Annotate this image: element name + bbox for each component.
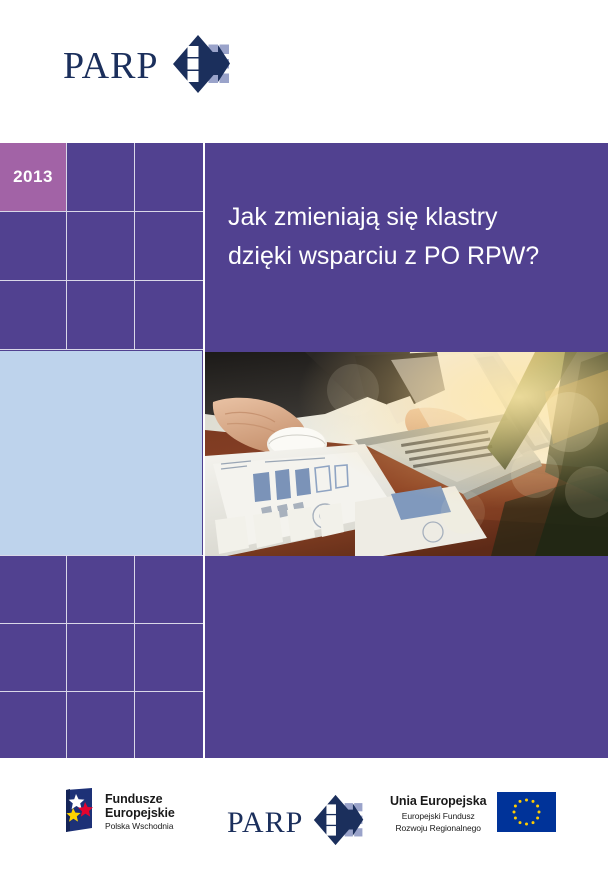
- cover-art-block: 2013 Jak zmieniają się klastry dzięki ws…: [0, 143, 608, 758]
- eu-line-2: Europejski Fundusz: [390, 810, 486, 822]
- parp-diamond-icon: [313, 794, 365, 851]
- year-badge-label: 2013: [13, 167, 53, 187]
- eu-flag-icon: [497, 792, 556, 837]
- page-title-line-1: Jak zmieniają się klastry: [228, 198, 588, 237]
- page-title: Jak zmieniają się klastry dzięki wsparci…: [228, 198, 588, 276]
- grid-hline-4: [0, 555, 203, 556]
- fe-line-2: Europejskie: [105, 806, 175, 820]
- unia-europejska-text: Unia Europejska Europejski Fundusz Rozwo…: [390, 794, 486, 834]
- parp-wordmark: PARP: [63, 47, 159, 85]
- footer-parp-logo: PARP: [227, 794, 365, 851]
- cover-photo: [205, 352, 608, 556]
- footer-parp-wordmark: PARP: [227, 808, 303, 838]
- grid-vline-1: [66, 143, 67, 350]
- eu-line-1: Unia Europejska: [390, 794, 486, 810]
- grid-hline-6: [0, 691, 203, 692]
- fundusze-europejskie-flag-icon: [62, 788, 96, 837]
- fe-line-1: Fundusze: [105, 792, 175, 806]
- grid-vline-3: [66, 555, 67, 758]
- grid-hline-2: [0, 280, 203, 281]
- footer-logo-row: Fundusze Europejskie Polska Wschodnia PA…: [0, 788, 608, 850]
- accent-panel-blue: [0, 351, 202, 555]
- header-parp-logo: PARP: [63, 36, 232, 96]
- grid-vline-4: [134, 555, 135, 758]
- footer: Fundusze Europejskie Polska Wschodnia PA…: [0, 758, 608, 871]
- fundusze-europejskie-text: Fundusze Europejskie Polska Wschodnia: [105, 792, 175, 833]
- grid-vline-2: [134, 143, 135, 350]
- grid-hline-1: [0, 211, 203, 212]
- cover-page: PARP: [0, 0, 608, 871]
- year-badge: 2013: [0, 143, 66, 211]
- eu-line-3: Rozwoju Regionalnego: [390, 822, 486, 834]
- unia-europejska-logo: Unia Europejska Europejski Fundusz Rozwo…: [390, 792, 556, 837]
- fe-line-3: Polska Wschodnia: [105, 820, 175, 833]
- parp-diamond-icon: [172, 34, 232, 99]
- grid-hline-3: [0, 349, 203, 350]
- page-title-line-2: dzięki wsparciu z PO RPW?: [228, 237, 588, 276]
- fundusze-europejskie-logo: Fundusze Europejskie Polska Wschodnia: [62, 788, 175, 837]
- grid-hline-5: [0, 623, 203, 624]
